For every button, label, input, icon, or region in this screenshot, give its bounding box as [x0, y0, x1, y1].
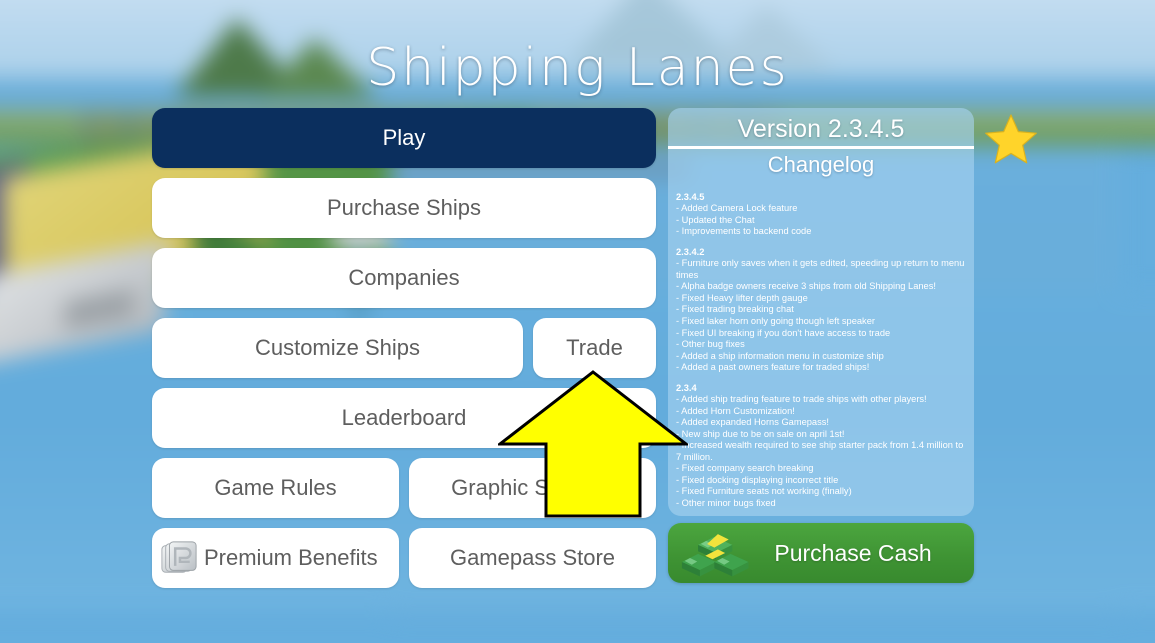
- companies-button-label: Companies: [348, 265, 459, 291]
- leaderboard-button[interactable]: Leaderboard: [152, 388, 656, 448]
- customize-ships-button-label: Customize Ships: [255, 335, 420, 361]
- changelog-entry: - Added a ship information menu in custo…: [676, 351, 970, 363]
- gamepass-store-button[interactable]: Gamepass Store: [409, 528, 656, 588]
- changelog-entry: - Increased wealth required to see ship …: [676, 440, 970, 463]
- changelog-entry: - Added Horn Customization!: [676, 406, 970, 418]
- changelog-entry: - Fixed laker horn only going though lef…: [676, 316, 970, 328]
- trade-button-label: Trade: [566, 335, 623, 361]
- premium-benefits-button-label: Premium Benefits: [204, 545, 378, 571]
- game-rules-button[interactable]: Game Rules: [152, 458, 399, 518]
- changelog-entry: - Furniture only saves when it gets edit…: [676, 258, 970, 281]
- changelog-body: 2.3.4.5 - Added Camera Lock feature - Up…: [668, 186, 974, 516]
- changelog-version: 2.3.4.5: [676, 192, 970, 204]
- menu-row: Premium Benefits Gamepass Store: [152, 528, 656, 588]
- changelog-entry: - Fixed docking displaying incorrect tit…: [676, 475, 970, 487]
- premium-benefits-button[interactable]: Premium Benefits: [152, 528, 399, 588]
- graphic-settings-button[interactable]: Graphic Settings: [409, 458, 656, 518]
- menu-row: Play: [152, 108, 656, 168]
- game-main-menu-screen: Shipping Lanes Play Purchase Ships Compa…: [0, 0, 1155, 643]
- changelog-block: 2.3.4 - Added ship trading feature to tr…: [676, 383, 970, 510]
- companies-button[interactable]: Companies: [152, 248, 656, 308]
- main-menu: Play Purchase Ships Companies Customize …: [152, 108, 656, 598]
- page-title: Shipping Lanes: [0, 42, 1155, 94]
- changelog-entry: - Fixed company search breaking: [676, 463, 970, 475]
- menu-row: Customize Ships Trade: [152, 318, 656, 378]
- changelog-entry: - Fixed Furniture seats not working (fin…: [676, 486, 970, 498]
- changelog-entry: - Fixed Heavy lifter depth gauge: [676, 293, 970, 305]
- changelog-entry: - Other minor bugs fixed: [676, 498, 970, 510]
- changelog-entry: - Fixed trading breaking chat: [676, 304, 970, 316]
- money-stack-icon: [678, 526, 756, 580]
- changelog-entry: - Added a past owners feature for traded…: [676, 362, 970, 374]
- customize-ships-button[interactable]: Customize Ships: [152, 318, 523, 378]
- graphic-settings-button-label: Graphic Settings: [451, 475, 614, 501]
- star-icon: [983, 112, 1039, 166]
- purchase-cash-button[interactable]: Purchase Cash: [668, 523, 974, 583]
- changelog-entry: - New ship due to be on sale on april 1s…: [676, 429, 970, 441]
- menu-row: Leaderboard: [152, 388, 656, 448]
- changelog-entry: - Updated the Chat: [676, 215, 970, 227]
- purchase-ships-button-label: Purchase Ships: [327, 195, 481, 221]
- leaderboard-button-label: Leaderboard: [342, 405, 467, 431]
- changelog-entry: - Added expanded Horns Gamepass!: [676, 417, 970, 429]
- changelog-title: Changelog: [668, 151, 974, 186]
- changelog-block: 2.3.4.2 - Furniture only saves when it g…: [676, 247, 970, 374]
- changelog-version: 2.3.4.2: [676, 247, 970, 259]
- roblox-premium-icon: [160, 539, 198, 577]
- menu-row: Companies: [152, 248, 656, 308]
- play-button-label: Play: [383, 125, 426, 151]
- purchase-cash-label: Purchase Cash: [756, 540, 964, 567]
- changelog-entry: - Added ship trading feature to trade sh…: [676, 394, 970, 406]
- game-rules-button-label: Game Rules: [214, 475, 336, 501]
- version-label: Version 2.3.4.5: [668, 108, 974, 145]
- changelog-block: 2.3.4.5 - Added Camera Lock feature - Up…: [676, 192, 970, 238]
- purchase-ships-button[interactable]: Purchase Ships: [152, 178, 656, 238]
- menu-row: Game Rules Graphic Settings: [152, 458, 656, 518]
- changelog-panel: Version 2.3.4.5 Changelog 2.3.4.5 - Adde…: [668, 108, 974, 516]
- changelog-entry: - Alpha badge owners receive 3 ships fro…: [676, 281, 970, 293]
- gamepass-store-button-label: Gamepass Store: [450, 545, 615, 571]
- changelog-entry: - Other bug fixes: [676, 339, 970, 351]
- changelog-version: 2.3.4: [676, 383, 970, 395]
- changelog-entry: - Improvements to backend code: [676, 226, 970, 238]
- divider: [668, 146, 974, 149]
- trade-button[interactable]: Trade: [533, 318, 656, 378]
- menu-row: Purchase Ships: [152, 178, 656, 238]
- play-button[interactable]: Play: [152, 108, 656, 168]
- changelog-entry: - Added Camera Lock feature: [676, 203, 970, 215]
- changelog-entry: - Fixed UI breaking if you don't have ac…: [676, 328, 970, 340]
